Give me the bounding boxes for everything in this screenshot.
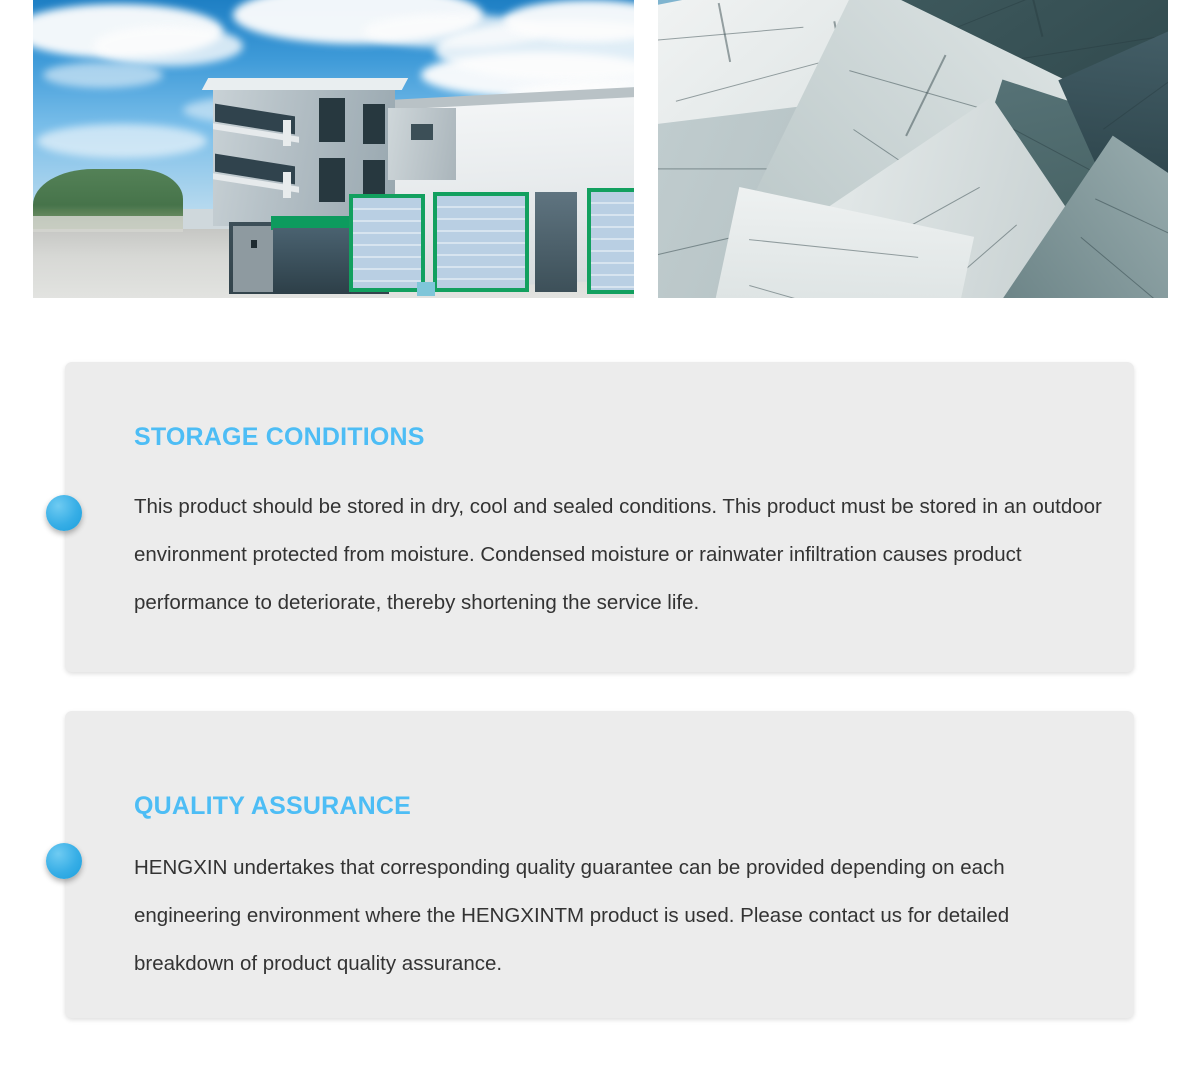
annex-window	[411, 124, 433, 140]
quality-assurance-title: QUALITY ASSURANCE	[134, 792, 411, 821]
factory-building-photo	[33, 0, 634, 298]
office-window	[363, 104, 385, 144]
wall-lamp	[251, 240, 257, 248]
office-window	[283, 172, 291, 198]
cloud	[43, 62, 163, 88]
entrance-glazing	[273, 228, 351, 294]
office-ground-floor-light-panel	[233, 226, 273, 292]
quality-assurance-body: HENGXIN undertakes that corresponding qu…	[134, 844, 1109, 988]
blue-dot-marker-icon	[46, 843, 82, 879]
cloud	[37, 124, 207, 158]
architectural-facade-photo	[658, 0, 1168, 298]
quality-assurance-card: QUALITY ASSURANCE HENGXIN undertakes tha…	[65, 711, 1134, 1018]
factory-scene	[33, 0, 634, 298]
blue-utility-box	[417, 282, 435, 296]
blue-dot-marker-icon	[46, 495, 82, 531]
green-framed-garage-door	[349, 194, 425, 292]
green-framed-garage-door	[433, 192, 529, 292]
office-roof-edge	[202, 78, 408, 90]
office-window	[319, 158, 345, 202]
storage-conditions-body: This product should be stored in dry, co…	[134, 483, 1109, 627]
facade-scene	[658, 0, 1168, 298]
office-window	[319, 98, 345, 142]
cloud	[93, 26, 243, 66]
office-annex	[388, 108, 456, 180]
image-gallery	[0, 0, 1200, 298]
green-framed-garage-door	[587, 188, 634, 294]
storage-conditions-card: STORAGE CONDITIONS This product should b…	[65, 362, 1134, 672]
office-window	[283, 120, 291, 146]
side-window	[535, 192, 577, 292]
storage-conditions-title: STORAGE CONDITIONS	[134, 423, 425, 452]
fence	[33, 216, 183, 232]
